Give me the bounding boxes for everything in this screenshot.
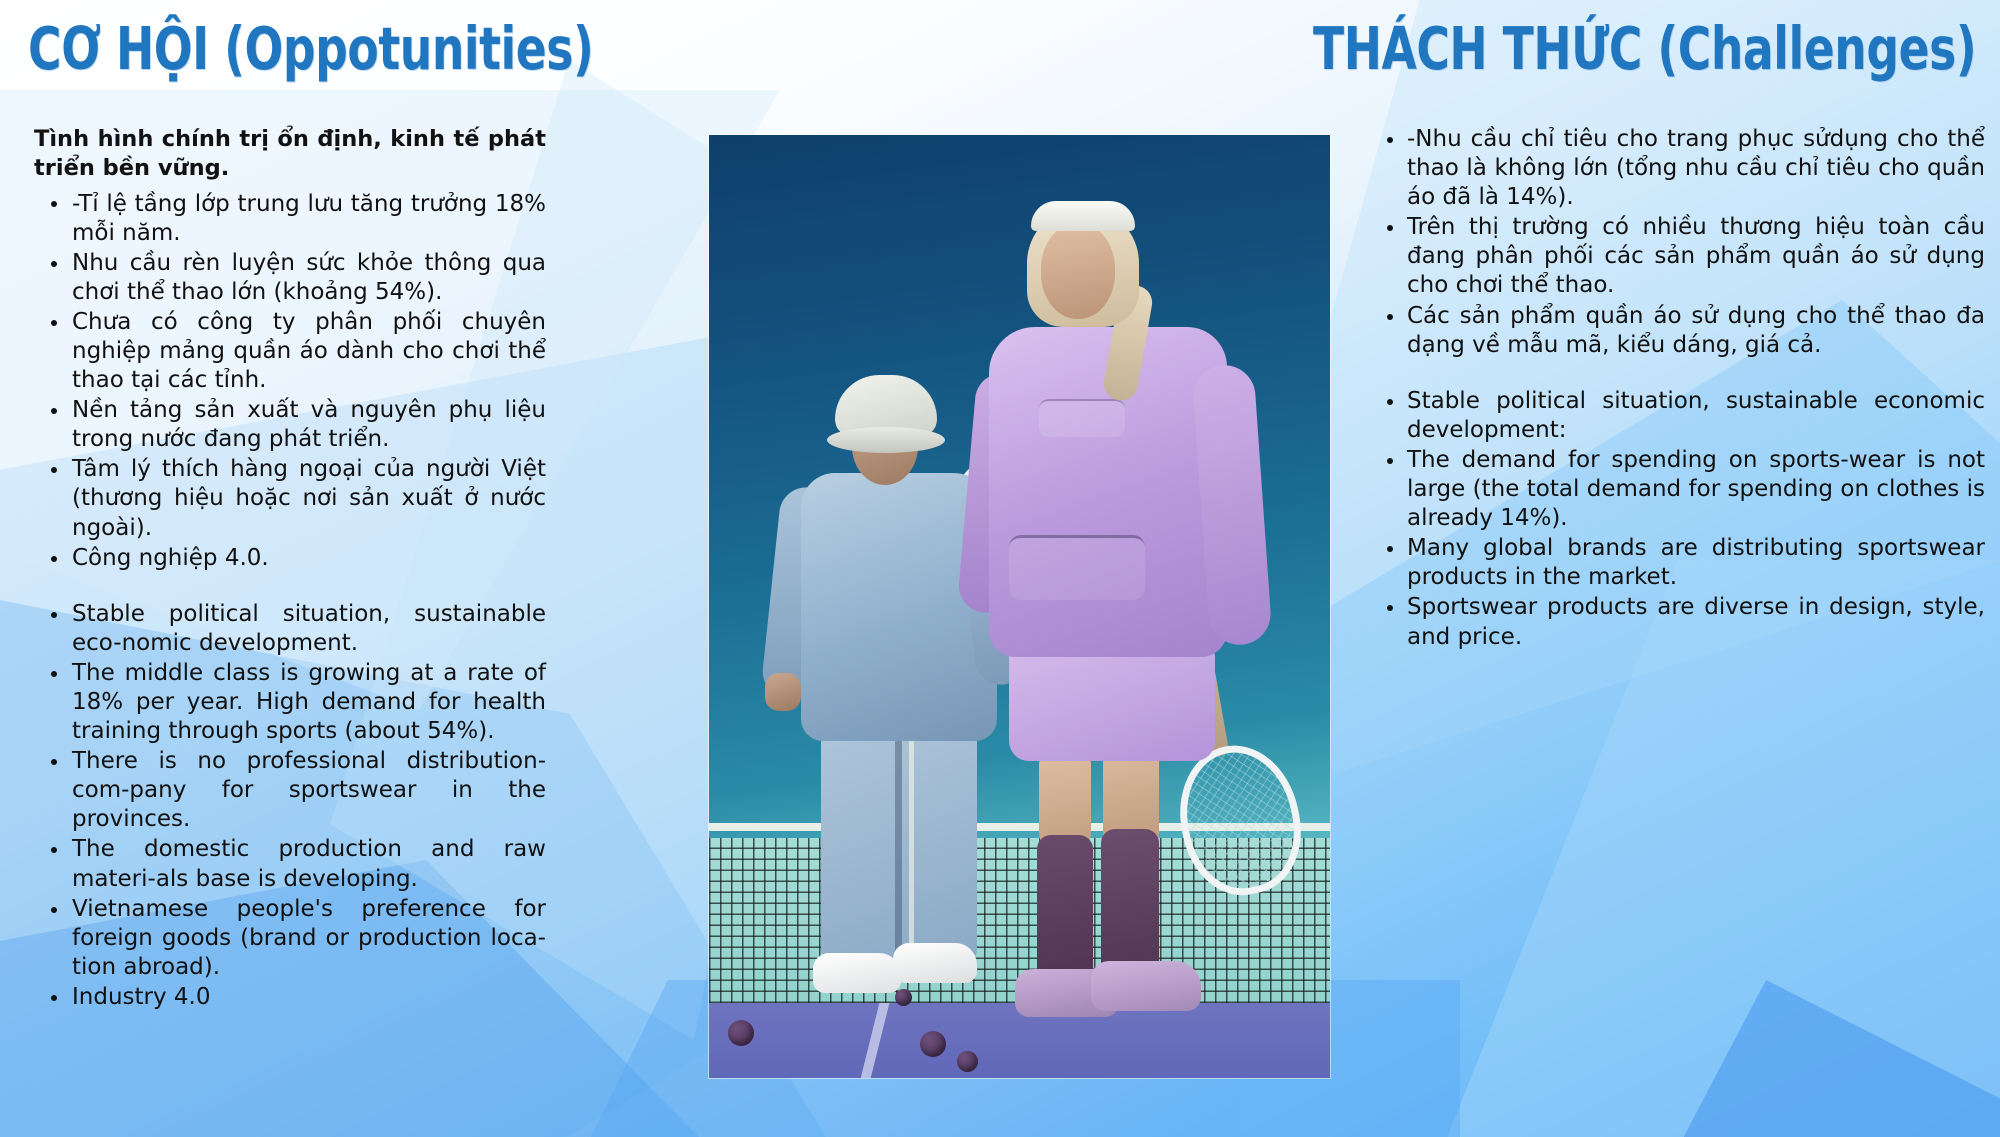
opportunities-english-list: Stable political situation, sustainable …: [34, 600, 546, 1012]
list-item: Sportswear products are diverse in desig…: [1373, 593, 1985, 651]
male-model-hand: [765, 673, 801, 711]
list-item: The middle class is growing at a rate of…: [34, 659, 546, 746]
list-item: Nhu cầu rèn luyện sức khỏe thông qua chơ…: [34, 249, 546, 307]
column-spacer: [34, 574, 546, 600]
list-item: Industry 4.0: [34, 983, 546, 1012]
male-model-leg-split: [895, 735, 902, 967]
female-model-shorts: [1009, 643, 1215, 761]
list-item: -Nhu cầu chỉ tiêu cho trang phục sửdụng …: [1373, 125, 1985, 212]
list-item: Stable political situation, sustainable …: [34, 600, 546, 658]
male-model-trouser-stripe: [909, 739, 914, 963]
opportunities-lead: Tình hình chính trị ổn định, kinh tế phá…: [34, 125, 546, 184]
tennis-ball-icon: [728, 1020, 754, 1046]
list-item: The demand for spending on sports-wear i…: [1373, 446, 1985, 533]
challenges-title: THÁCH THỨC (Challenges): [1313, 14, 1976, 83]
female-model-chest-pocket: [1039, 399, 1125, 437]
list-item: There is no professional distribution-co…: [34, 747, 546, 834]
list-item: Các sản phẩm quần áo sử dụng cho thể tha…: [1373, 302, 1985, 360]
male-model-hat-brim: [827, 427, 945, 453]
list-item: Trên thị trường có nhiều thương hiệu toà…: [1373, 213, 1985, 300]
list-item: Công nghiệp 4.0.: [34, 544, 546, 573]
list-item: Nền tảng sản xuất và nguyên phụ liệu tro…: [34, 396, 546, 454]
column-spacer: [1373, 361, 1985, 387]
challenges-english-list: Stable political situation, sustainable …: [1373, 387, 1985, 652]
list-item: Many global brands are distributing spor…: [1373, 534, 1985, 592]
opportunities-vietnamese-list: -Tỉ lệ tầng lớp trung lưu tăng trưởng 18…: [34, 190, 546, 573]
challenges-column: -Nhu cầu chỉ tiêu cho trang phục sửdụng …: [1373, 125, 1985, 653]
list-item: Chưa có công ty phân phối chuyên nghiệp …: [34, 308, 546, 395]
male-model-shoe-right: [893, 943, 977, 983]
list-item: Stable political situation, sustainable …: [1373, 387, 1985, 445]
list-item: Tâm lý thích hàng ngoại của người Việt (…: [34, 455, 546, 542]
opportunities-title: CƠ HỘI (Oppotunities): [28, 14, 593, 83]
female-model-headband: [1031, 201, 1135, 231]
male-model-shoe-left: [813, 953, 901, 993]
background-facet: [1640, 980, 2000, 1137]
female-model-shoe-right: [1091, 961, 1201, 1011]
female-model-sock-right: [1101, 829, 1159, 983]
sportswear-photo: [709, 135, 1330, 1078]
female-model-sock-left: [1037, 835, 1093, 985]
slide-root: CƠ HỘI (Oppotunities) THÁCH THỨC (Challe…: [0, 0, 2000, 1137]
list-item: Vietnamese people's preference for forei…: [34, 895, 546, 982]
challenges-vietnamese-list: -Nhu cầu chỉ tiêu cho trang phục sửdụng …: [1373, 125, 1985, 360]
opportunities-column: Tình hình chính trị ổn định, kinh tế phá…: [34, 125, 546, 1013]
list-item: -Tỉ lệ tầng lớp trung lưu tăng trưởng 18…: [34, 190, 546, 248]
female-model-jacket-pocket: [1009, 535, 1145, 600]
list-item: The domestic production and raw materi-a…: [34, 835, 546, 893]
female-model-head: [1041, 223, 1115, 319]
